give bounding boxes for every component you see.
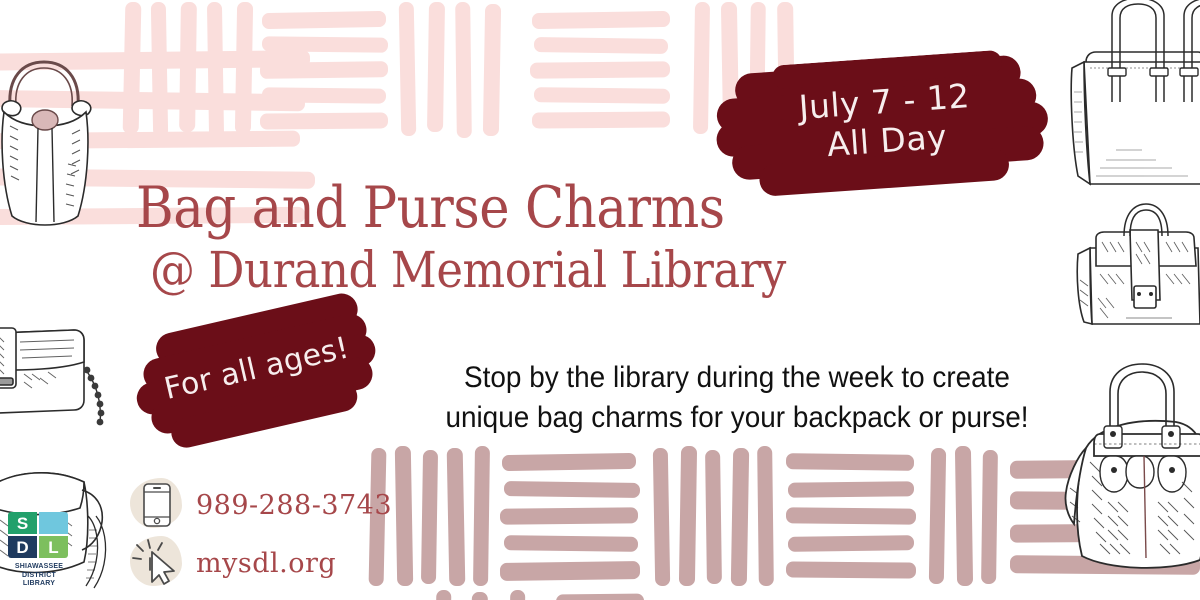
- sdl-tile-s: S: [8, 512, 37, 534]
- body-copy-line-2: unique bag charms for your backpack or p…: [398, 398, 1077, 438]
- sdl-letter-s: S: [17, 515, 28, 532]
- sdl-logo-caption: SHIAWASSEE DISTRICT LIBRARY: [8, 563, 70, 589]
- contact-website-row[interactable]: mysdl.org: [128, 534, 336, 592]
- smartphone-icon: [128, 476, 186, 534]
- clutch-bag-illustration: [0, 300, 120, 440]
- headline-line-2: @ Durand Memorial Library: [150, 240, 821, 300]
- sdl-logo: S U D L SHIAWASSEE DISTRICT LIBRARY: [8, 512, 74, 589]
- headline-line-1: Bag and Purse Charms: [136, 176, 820, 240]
- website-url: mysdl.org: [196, 548, 336, 579]
- phone-number: 989-288-3743: [196, 490, 392, 521]
- contact-phone-row[interactable]: 989-288-3743: [128, 476, 392, 534]
- sdl-tile-d: D: [8, 536, 37, 558]
- satchel-bag-illustration: [1066, 190, 1200, 340]
- date-badge: July 7 - 12 All Day: [712, 46, 1061, 205]
- ages-badge: For all ages!: [123, 286, 393, 463]
- sdl-letter-d: D: [16, 539, 28, 556]
- body-copy: Stop by the library during the week to c…: [398, 358, 1077, 438]
- sdl-tile-u: U: [39, 512, 68, 534]
- sdl-letter-l: L: [48, 539, 58, 556]
- cursor-click-icon: [128, 534, 186, 592]
- poster-canvas: July 7 - 12 All Day For all ages! Bag an…: [0, 0, 1200, 600]
- tote-bag-illustration: [1060, 0, 1200, 196]
- body-copy-line-1: Stop by the library during the week to c…: [398, 358, 1077, 398]
- sdl-tile-l: L: [39, 536, 68, 558]
- sdl-logo-tiles: S U D L: [8, 512, 70, 560]
- sdl-caption-line-1: SHIAWASSEE: [8, 563, 70, 572]
- bucket-bag-illustration: [0, 44, 108, 234]
- sdl-caption-line-2: DISTRICT LIBRARY: [8, 572, 70, 589]
